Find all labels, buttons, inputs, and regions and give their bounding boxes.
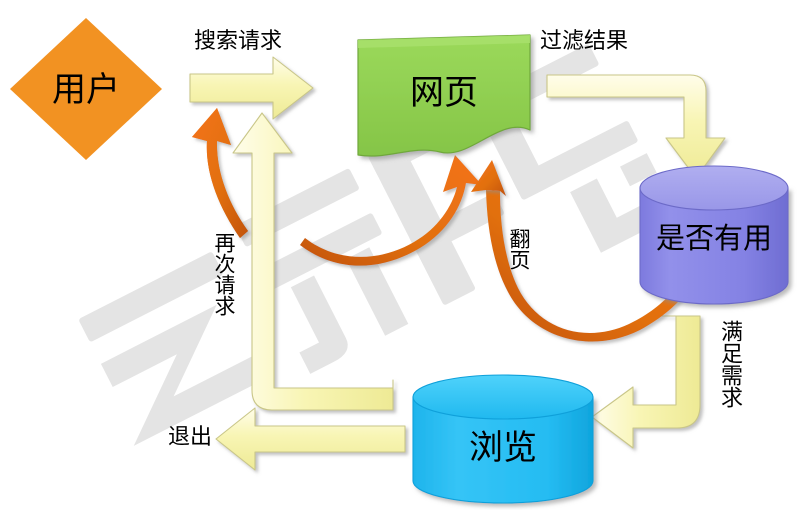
connector-label-request-again: 再次请求: [213, 232, 234, 360]
node-useful-label: 是否有用: [640, 215, 788, 257]
connector-label-page-turn: 翻页: [508, 228, 529, 288]
connector-label-meet-demand: 满足需求: [719, 320, 741, 440]
node-browse-label: 浏览: [413, 420, 593, 469]
node-webpage-label: 网页: [358, 65, 530, 114]
connector-label-search-request: 搜索请求: [194, 30, 282, 52]
connector-label-filter-result: 过滤结果: [540, 30, 628, 52]
connector-label-exit: 退出: [168, 426, 212, 448]
flowchart-canvas: 用户 网页 是否有用 浏览 搜索请求 过滤结果 满足需求 退出 再次请求 翻页: [0, 0, 800, 510]
node-user-label: 用户: [10, 62, 162, 111]
